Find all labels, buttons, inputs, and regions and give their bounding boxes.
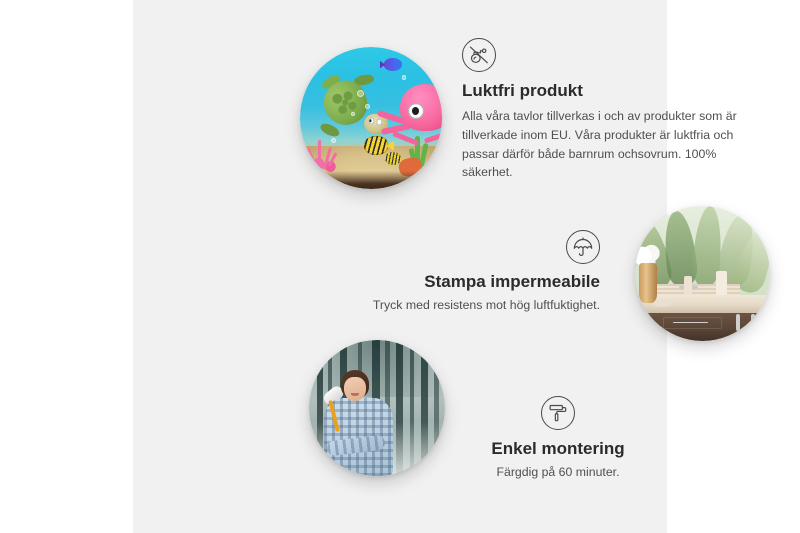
feature-body: Tryck med resistens mot hög luftfuktighe…: [338, 296, 600, 315]
no-odour-perfume-bottle-icon: [462, 38, 496, 72]
gold-vase: [639, 263, 657, 304]
underwater-image-inner: [300, 47, 442, 189]
feature-body: Färgdig på 60 minuter.: [443, 463, 673, 482]
feature-block-waterproof: Stampa impermeabile Tryck med resistens …: [338, 230, 600, 315]
underwater-cartoon-circle-image[interactable]: [300, 47, 442, 189]
screenshot-root: Luktfri produkt Alla våra tavlor tillver…: [0, 0, 800, 533]
feature-body: Alla våra tavlor tillverkas i och av pro…: [462, 107, 754, 182]
feature-title: Stampa impermeabile: [338, 271, 600, 292]
feature-title: Enkel montering: [443, 438, 673, 459]
bathroom-image-inner: [635, 206, 770, 341]
forest-image-inner: [309, 340, 445, 476]
umbrella-icon: [566, 230, 600, 264]
bathroom-wallpaper-circle-image[interactable]: [635, 206, 770, 341]
feature-title: Luktfri produkt: [462, 80, 754, 101]
woman-with-paint-roller: [320, 370, 396, 476]
content-panel: Luktfri produkt Alla våra tavlor tillver…: [133, 0, 667, 533]
sea-foreground-rocks: [300, 171, 442, 189]
sea-turtle: [320, 78, 385, 138]
yellow-striped-fish: [364, 136, 388, 154]
forest-mural-circle-image[interactable]: [309, 340, 445, 476]
small-yellow-fish: [385, 152, 401, 165]
soap-bottle: [684, 276, 692, 296]
wooden-vanity-cabinet: [646, 313, 770, 341]
pink-octopus: [385, 84, 442, 149]
feature-block-assembly: Enkel montering Färgdig på 60 minuter.: [443, 396, 673, 482]
paint-roller-icon: [541, 396, 575, 430]
feature-block-odourless: Luktfri produkt Alla våra tavlor tillver…: [462, 38, 754, 182]
